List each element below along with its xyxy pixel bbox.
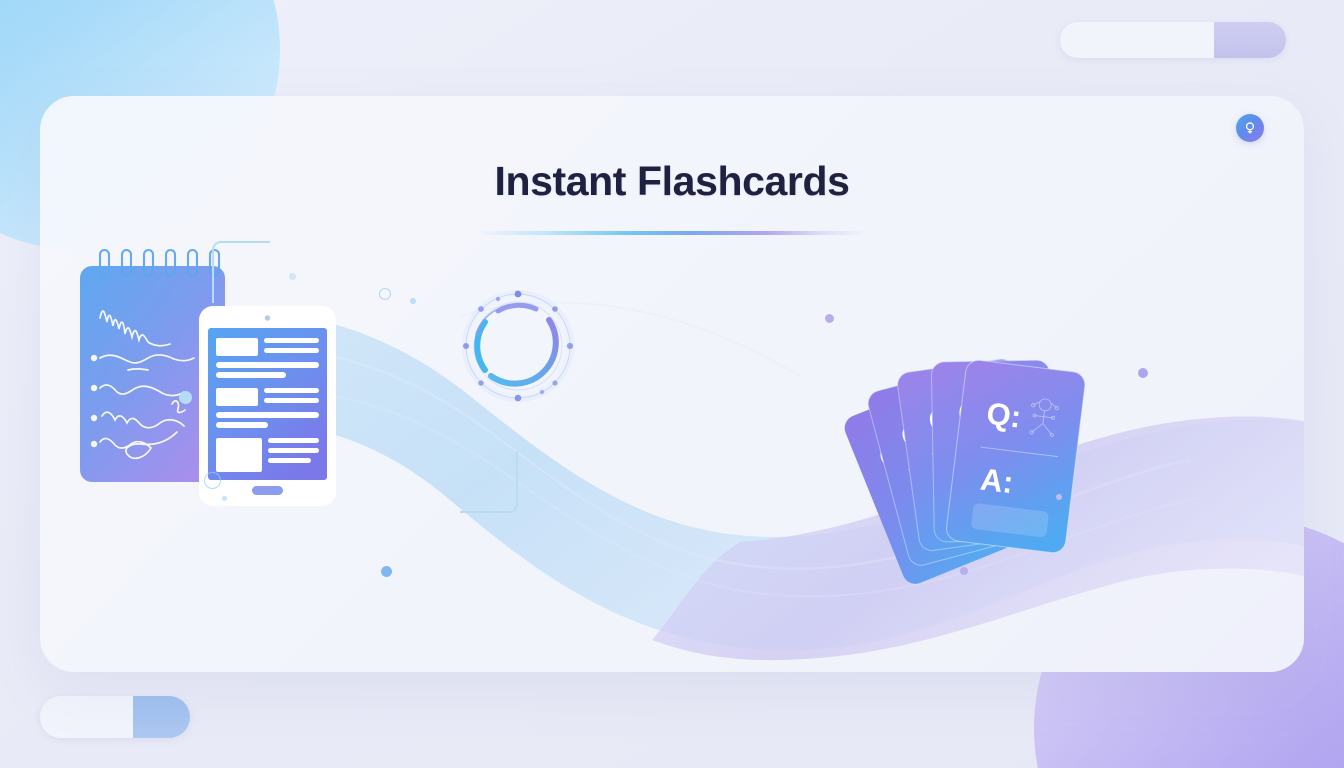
home-button <box>252 486 283 495</box>
pill-fill <box>133 696 190 738</box>
particle-dot <box>179 391 192 404</box>
particle-dot <box>381 566 392 577</box>
particle-dot <box>289 273 296 280</box>
card-question-label: Q: <box>985 396 1023 435</box>
main-card-panel: Instant Flashcards <box>40 96 1304 672</box>
particle-dot <box>825 314 834 323</box>
corner-bracket-top-left <box>212 241 270 303</box>
progress-pill-top[interactable] <box>1060 22 1286 58</box>
progress-pill-bottom[interactable] <box>40 696 190 738</box>
card-answer-label: A: <box>979 462 1016 501</box>
corner-bracket-bottom-right <box>460 451 518 513</box>
flashcard: Q: A: <box>945 359 1086 554</box>
particle-dot <box>1056 494 1062 500</box>
particle-dot <box>1138 368 1148 378</box>
hero-illustration: Q: A: Q: A: Q: <box>40 246 1304 666</box>
page-title: Instant Flashcards <box>40 158 1304 205</box>
title-underline <box>476 231 868 235</box>
pill-track <box>1060 22 1214 58</box>
title-block: Instant Flashcards <box>40 158 1304 235</box>
search-pin-icon[interactable] <box>1236 114 1264 142</box>
ai-processing-ring <box>462 290 574 402</box>
page-background: Instant Flashcards <box>0 0 1344 768</box>
particle-ring <box>204 472 221 489</box>
camera-dot <box>265 315 270 320</box>
particle-dot <box>410 298 416 304</box>
particle-dot <box>960 567 968 575</box>
pill-fill <box>1214 22 1286 58</box>
particle-dot <box>222 496 227 501</box>
particle-ring <box>379 288 391 300</box>
pill-track <box>40 696 133 738</box>
